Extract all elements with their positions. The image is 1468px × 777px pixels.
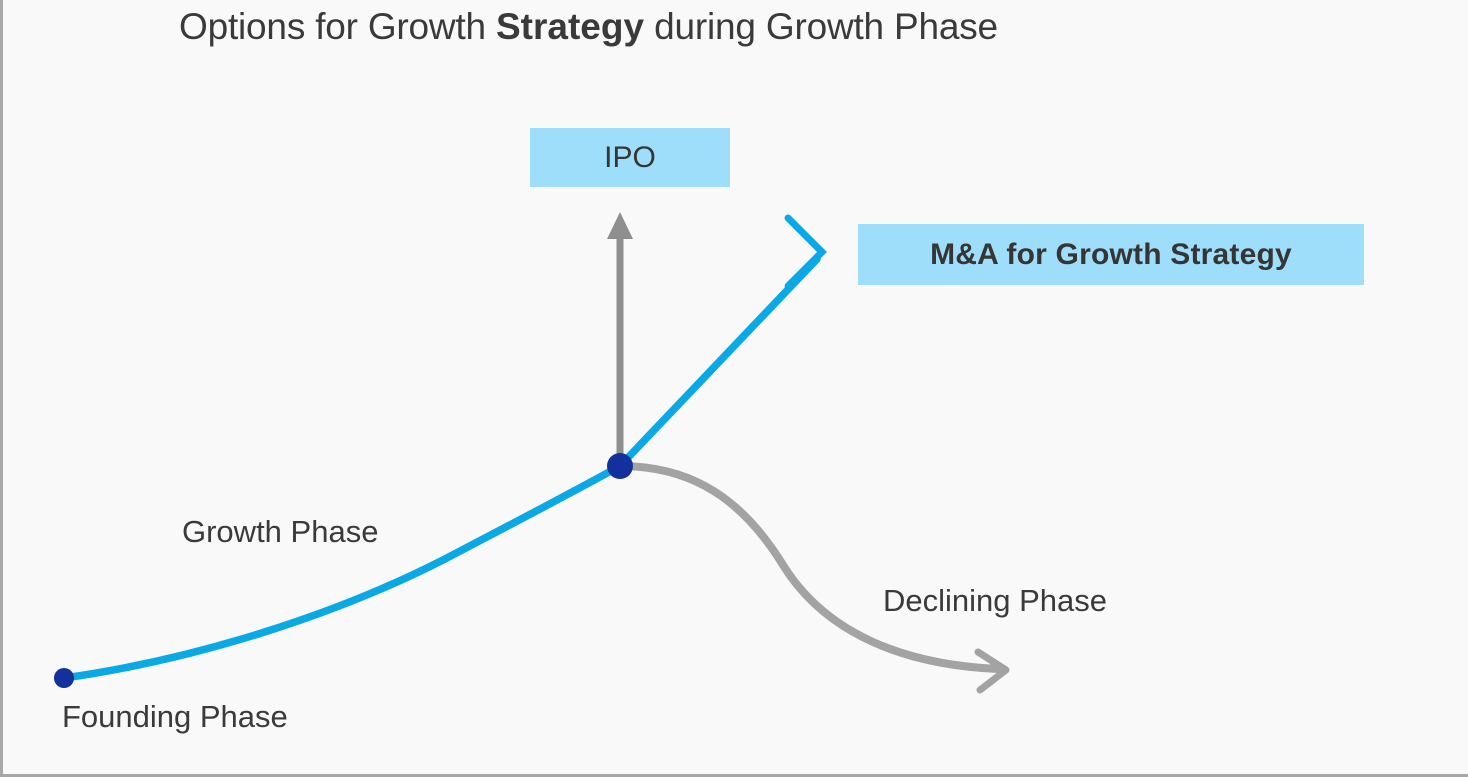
title-part-1: Options for Growth	[179, 6, 496, 47]
ipo-arrow	[607, 212, 633, 466]
diagram-canvas: Options for Growth Strategy during Growt…	[0, 0, 1468, 777]
declining-curve	[620, 466, 1006, 690]
founding-phase-label: Founding Phase	[62, 699, 288, 735]
founding-point-marker	[54, 668, 74, 688]
ipo-callout-box[interactable]: IPO	[530, 128, 730, 187]
growth-curve	[64, 218, 822, 678]
declining-phase-label: Declining Phase	[883, 583, 1107, 619]
ma-callout-label: M&A for Growth Strategy	[930, 238, 1292, 272]
ipo-callout-label: IPO	[604, 141, 656, 175]
title-part-2: during Growth Phase	[644, 6, 998, 47]
growth-phase-label: Growth Phase	[182, 514, 378, 550]
title-emphasis: Strategy	[496, 6, 644, 47]
diagram-graphics	[3, 0, 1468, 777]
ma-callout-box[interactable]: M&A for Growth Strategy	[858, 224, 1364, 285]
page-title: Options for Growth Strategy during Growt…	[179, 6, 998, 48]
decision-point-marker	[607, 453, 633, 479]
